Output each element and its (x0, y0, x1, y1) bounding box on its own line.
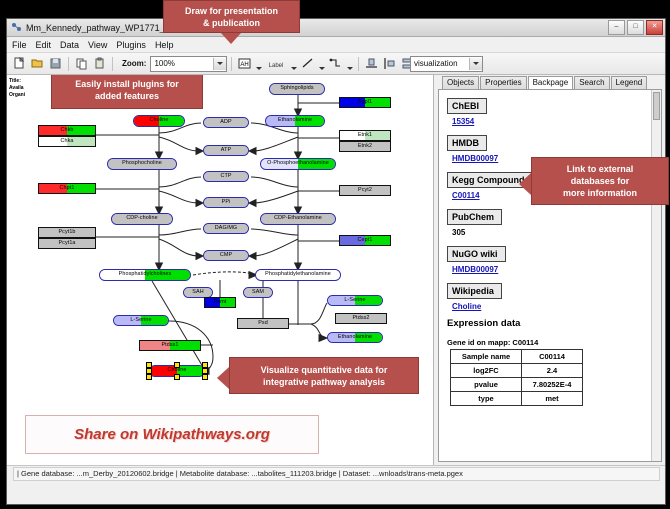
selection-handle[interactable] (174, 374, 180, 380)
gene-node[interactable]: Pcyt1b (38, 227, 96, 238)
pathvisio-window: Mm_Kennedy_pathway_WP1771_45176.gpml – □… (6, 18, 666, 505)
metabolite-node[interactable]: CDP-choline (111, 213, 173, 225)
gene-node[interactable]: Ptdss1 (139, 340, 201, 351)
metabolite-node[interactable]: L-Serine (113, 315, 169, 326)
row-key: log2FC (451, 364, 522, 378)
annotation-draw: Draw for presentation & publication (163, 0, 300, 33)
toolbar-separator-4 (358, 57, 359, 71)
row-value: C00114 (522, 350, 583, 364)
gene-node[interactable]: Etnk1 (339, 130, 391, 141)
db-link-wikipedia[interactable]: Choline (452, 302, 661, 311)
node-label: Phosphatidylcholines (119, 272, 172, 277)
pathway-canvas[interactable]: Title: Availa Organi (7, 75, 434, 465)
gene-node[interactable]: Chkb (38, 125, 96, 136)
pathway-drawing[interactable]: Title: Availa Organi (7, 75, 433, 465)
metabolite-node[interactable]: ADP (203, 117, 249, 128)
node-label: ATP (221, 148, 231, 153)
node-label: Ptdss2 (352, 316, 369, 321)
connector-tool-dropdown[interactable] (345, 54, 354, 73)
db-header-pubchem: PubChem (447, 209, 502, 225)
metabolite-node[interactable]: PPi (203, 197, 249, 208)
table-row: pvalue 7.80252E-4 (451, 378, 583, 392)
annotation-plugins: Easily install plugins for added feature… (51, 75, 203, 109)
node-label: Phosphatidylethanolamine (265, 272, 331, 277)
tab-legend[interactable]: Legend (611, 76, 648, 89)
menu-view[interactable]: View (88, 40, 107, 50)
node-label: Choline (168, 368, 187, 373)
row-value: met (522, 392, 583, 406)
expression-data-heading: Expression data (447, 318, 661, 329)
node-label: L-Serine (344, 298, 365, 303)
status-bar-text: | Gene database: ...m_Derby_20120602.bri… (14, 469, 463, 478)
db-link-nugo[interactable]: HMDB00097 (452, 265, 661, 274)
node-label: Chpt1 (60, 186, 75, 191)
metabolite-node[interactable]: CMP (203, 250, 249, 261)
node-label: Pcyt2 (358, 188, 372, 193)
node-label: Chkb (61, 128, 74, 133)
node-label: CMP (220, 253, 232, 258)
menu-data[interactable]: Data (60, 40, 79, 50)
node-label: Sphingolipids (280, 86, 313, 91)
svg-text:Label: Label (269, 63, 284, 69)
toolbar: Zoom: 100% AH Label visualization (7, 53, 665, 75)
gene-node[interactable]: Ptdss2 (335, 313, 387, 324)
node-label: CTP (220, 174, 231, 179)
tab-backpage[interactable]: Backpage (528, 76, 574, 90)
metabolite-node[interactable]: CDP-Ethanolamine (260, 213, 336, 225)
metabolite-node[interactable]: Sphingolipids (269, 83, 325, 95)
title-bar: Mm_Kennedy_pathway_WP1771_45176.gpml – □… (7, 19, 665, 37)
metabolite-node[interactable]: CTP (203, 171, 249, 182)
backpage-scrollbar[interactable] (651, 90, 661, 461)
metabolite-node[interactable]: Ethanolamine (265, 115, 325, 127)
annotation-link-text: Link to external databases for more info… (563, 163, 637, 199)
label-tool-icon[interactable]: Label (264, 55, 288, 72)
db-link-chebi[interactable]: 15354 (452, 117, 661, 126)
node-label: Ptdss1 (161, 343, 178, 348)
menu-bar: File Edit Data View Plugins Help (7, 37, 665, 53)
maximize-button[interactable]: □ (627, 20, 644, 35)
gene-node[interactable]: Pcyt2 (339, 185, 391, 196)
line-tool-dropdown[interactable] (317, 54, 326, 73)
gene-node[interactable]: Etnk2 (339, 141, 391, 152)
node-label: L-Serine (130, 318, 151, 323)
gene-node[interactable]: Chka (38, 136, 96, 147)
tab-properties[interactable]: Properties (480, 76, 526, 89)
label-tool-dropdown[interactable] (289, 54, 298, 73)
annotation-visualize: Visualize quantitative data for integrat… (229, 357, 419, 394)
align-left-icon[interactable] (381, 55, 398, 72)
table-row: log2FC 2.4 (451, 364, 583, 378)
metabolite-node[interactable]: Phosphocholine (107, 158, 177, 170)
connector-tool-icon[interactable] (327, 55, 344, 72)
gene-node[interactable]: Psd (237, 318, 289, 329)
selection-handle[interactable] (146, 374, 152, 380)
metabolite-node[interactable]: SAM (243, 287, 273, 298)
row-key: Sample name (451, 350, 522, 364)
line-tool-icon[interactable] (299, 55, 316, 72)
gene-node[interactable]: Cept1 (339, 235, 391, 246)
node-label: Etnk1 (358, 133, 372, 138)
toolbar-separator-1 (68, 57, 69, 71)
gene-node[interactable]: Pcyt1a (38, 238, 96, 249)
node-label: Pcyt1a (58, 241, 75, 246)
menu-plugins[interactable]: Plugins (116, 40, 146, 50)
row-key: type (451, 392, 522, 406)
gene-node[interactable]: Chpt1 (38, 183, 96, 194)
toolbar-separator-2 (112, 57, 113, 71)
metabolite-node[interactable]: Ethanolamine (327, 332, 383, 343)
node-label: O-Phosphoethanolamine (267, 161, 329, 166)
metabolite-node[interactable]: Phosphatidylcholines (99, 269, 191, 281)
annotation-draw-text: Draw for presentation & publication (185, 5, 278, 29)
node-label: Phosphocholine (122, 161, 162, 166)
metabolite-node[interactable]: Phosphatidylethanolamine (255, 269, 341, 281)
sidebar-tabs: Objects Properties Backpage Search Legen… (434, 75, 665, 89)
backpage-scrollbar-thumb[interactable] (653, 92, 660, 120)
toolbar-separator-3 (231, 57, 232, 71)
menu-file[interactable]: File (12, 40, 27, 50)
node-label: DAG/MG (215, 226, 237, 231)
annotation-link-arrow-icon (519, 173, 531, 195)
annotation-visualize-arrow-icon (217, 367, 229, 389)
gene-node[interactable]: Pemt (204, 297, 236, 308)
row-key: pvalue (451, 378, 522, 392)
node-label: Ethanolamine (278, 118, 312, 123)
open-icon[interactable] (29, 55, 46, 72)
db-header-hmdb: HMDB (447, 135, 487, 151)
new-icon[interactable] (11, 55, 28, 72)
node-label: Chka (61, 139, 74, 144)
tab-search[interactable]: Search (574, 76, 609, 89)
annotation-draw-arrow-icon (221, 33, 241, 44)
node-label: CDP-Ethanolamine (274, 216, 322, 221)
close-button[interactable]: ✕ (646, 20, 663, 35)
db-header-nugo: NuGO wiki (447, 246, 506, 262)
text-tool-icon[interactable]: AH (236, 55, 253, 72)
metabolite-node[interactable]: L-Serine (327, 295, 383, 306)
node-label: SAH (192, 290, 203, 295)
visualization-value: visualization (414, 59, 469, 68)
text-tool-dropdown[interactable] (254, 54, 263, 73)
chevron-down-icon[interactable] (213, 58, 226, 70)
main-area: Title: Availa Organi (7, 75, 665, 465)
node-label: ADP (220, 120, 231, 125)
copy-icon[interactable] (73, 55, 90, 72)
align-bottom-icon[interactable] (363, 55, 380, 72)
visualization-combobox[interactable]: visualization (410, 56, 483, 72)
save-icon[interactable] (47, 55, 64, 72)
visualization-chevron-down-icon[interactable] (469, 58, 482, 70)
tab-objects[interactable]: Objects (442, 76, 479, 89)
row-value: 7.80252E-4 (522, 378, 583, 392)
svg-text:AH: AH (241, 62, 249, 68)
gene-node[interactable]: Sgpl1 (339, 97, 391, 108)
annotation-share: Share on Wikipathways.org (25, 415, 319, 454)
status-bar-field: | Gene database: ...m_Derby_20120602.bri… (13, 467, 660, 481)
menu-edit[interactable]: Edit (36, 40, 52, 50)
metabolite-node[interactable]: Choline (133, 115, 185, 127)
db-header-wikipedia: Wikipedia (447, 283, 502, 299)
node-label: CDP-choline (126, 216, 157, 221)
window-controls: – □ ✕ (608, 20, 663, 35)
metabolite-node[interactable]: DAG/MG (203, 223, 249, 234)
annotation-link: Link to external databases for more info… (531, 157, 669, 205)
node-label: Cept1 (358, 238, 373, 243)
annotation-plugins-text: Easily install plugins for added feature… (75, 78, 179, 102)
zoom-label: Zoom: (122, 59, 146, 68)
node-label: Etnk2 (358, 144, 372, 149)
node-label: Pemt (214, 300, 227, 305)
zoom-combobox[interactable]: 100% (150, 56, 227, 72)
node-label: Ethanolamine (338, 335, 372, 340)
selection-handle[interactable] (174, 362, 180, 368)
db-value-pubchem: 305 (452, 228, 661, 237)
minimize-button[interactable]: – (608, 20, 625, 35)
annotation-share-text: Share on Wikipathways.org (74, 426, 270, 443)
selection-handle[interactable] (202, 374, 208, 380)
metabolite-node[interactable]: ATP (203, 145, 249, 156)
pathvisio-icon (11, 22, 22, 33)
node-label: SAM (252, 290, 264, 295)
gene-id-line: Gene id on mapp: C00114 (447, 338, 661, 347)
backpage-panel[interactable]: ChEBI 15354 HMDB HMDB00097 Kegg Compound… (438, 89, 662, 462)
menu-help[interactable]: Help (155, 40, 174, 50)
status-bar: | Gene database: ...m_Derby_20120602.bri… (7, 465, 665, 481)
sidebar: Objects Properties Backpage Search Legen… (434, 75, 665, 465)
row-value: 2.4 (522, 364, 583, 378)
paste-icon[interactable] (91, 55, 108, 72)
node-label: Pcyt1b (58, 230, 75, 235)
annotation-visualize-text: Visualize quantitative data for integrat… (261, 364, 388, 388)
node-label: Choline (150, 118, 169, 123)
table-row: type met (451, 392, 583, 406)
db-header-chebi: ChEBI (447, 98, 487, 114)
table-row: Sample name C00114 (451, 350, 583, 364)
node-label: PPi (222, 200, 231, 205)
expression-table: Sample name C00114 log2FC 2.4 pvalue 7.8… (450, 349, 583, 406)
metabolite-node[interactable]: O-Phosphoethanolamine (260, 158, 336, 170)
zoom-value: 100% (154, 59, 213, 68)
node-label: Psd (258, 321, 268, 326)
node-label: Sgpl1 (358, 100, 372, 105)
